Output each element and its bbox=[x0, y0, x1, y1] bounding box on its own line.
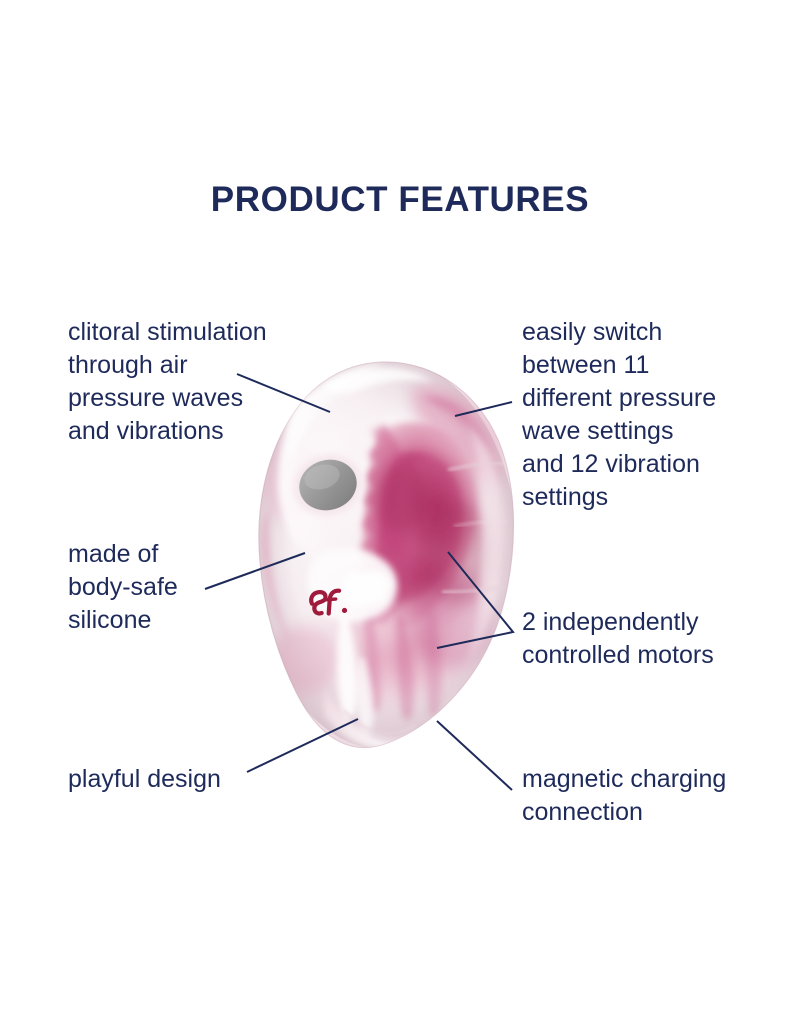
callout-playful-design: playful design bbox=[68, 763, 278, 796]
callout-air-pressure: clitoral stimulation through air pressur… bbox=[68, 316, 318, 448]
callout-pressure-modes: easily switch between 11 different press… bbox=[522, 316, 752, 514]
product-features-page: PRODUCT FEATURES bbox=[0, 0, 800, 1016]
page-title: PRODUCT FEATURES bbox=[0, 180, 800, 220]
callout-magnetic-charging: magnetic charging connection bbox=[522, 763, 762, 829]
callout-motors: 2 independently controlled motors bbox=[522, 606, 752, 672]
callout-silicone: made of body-safe silicone bbox=[68, 538, 268, 637]
